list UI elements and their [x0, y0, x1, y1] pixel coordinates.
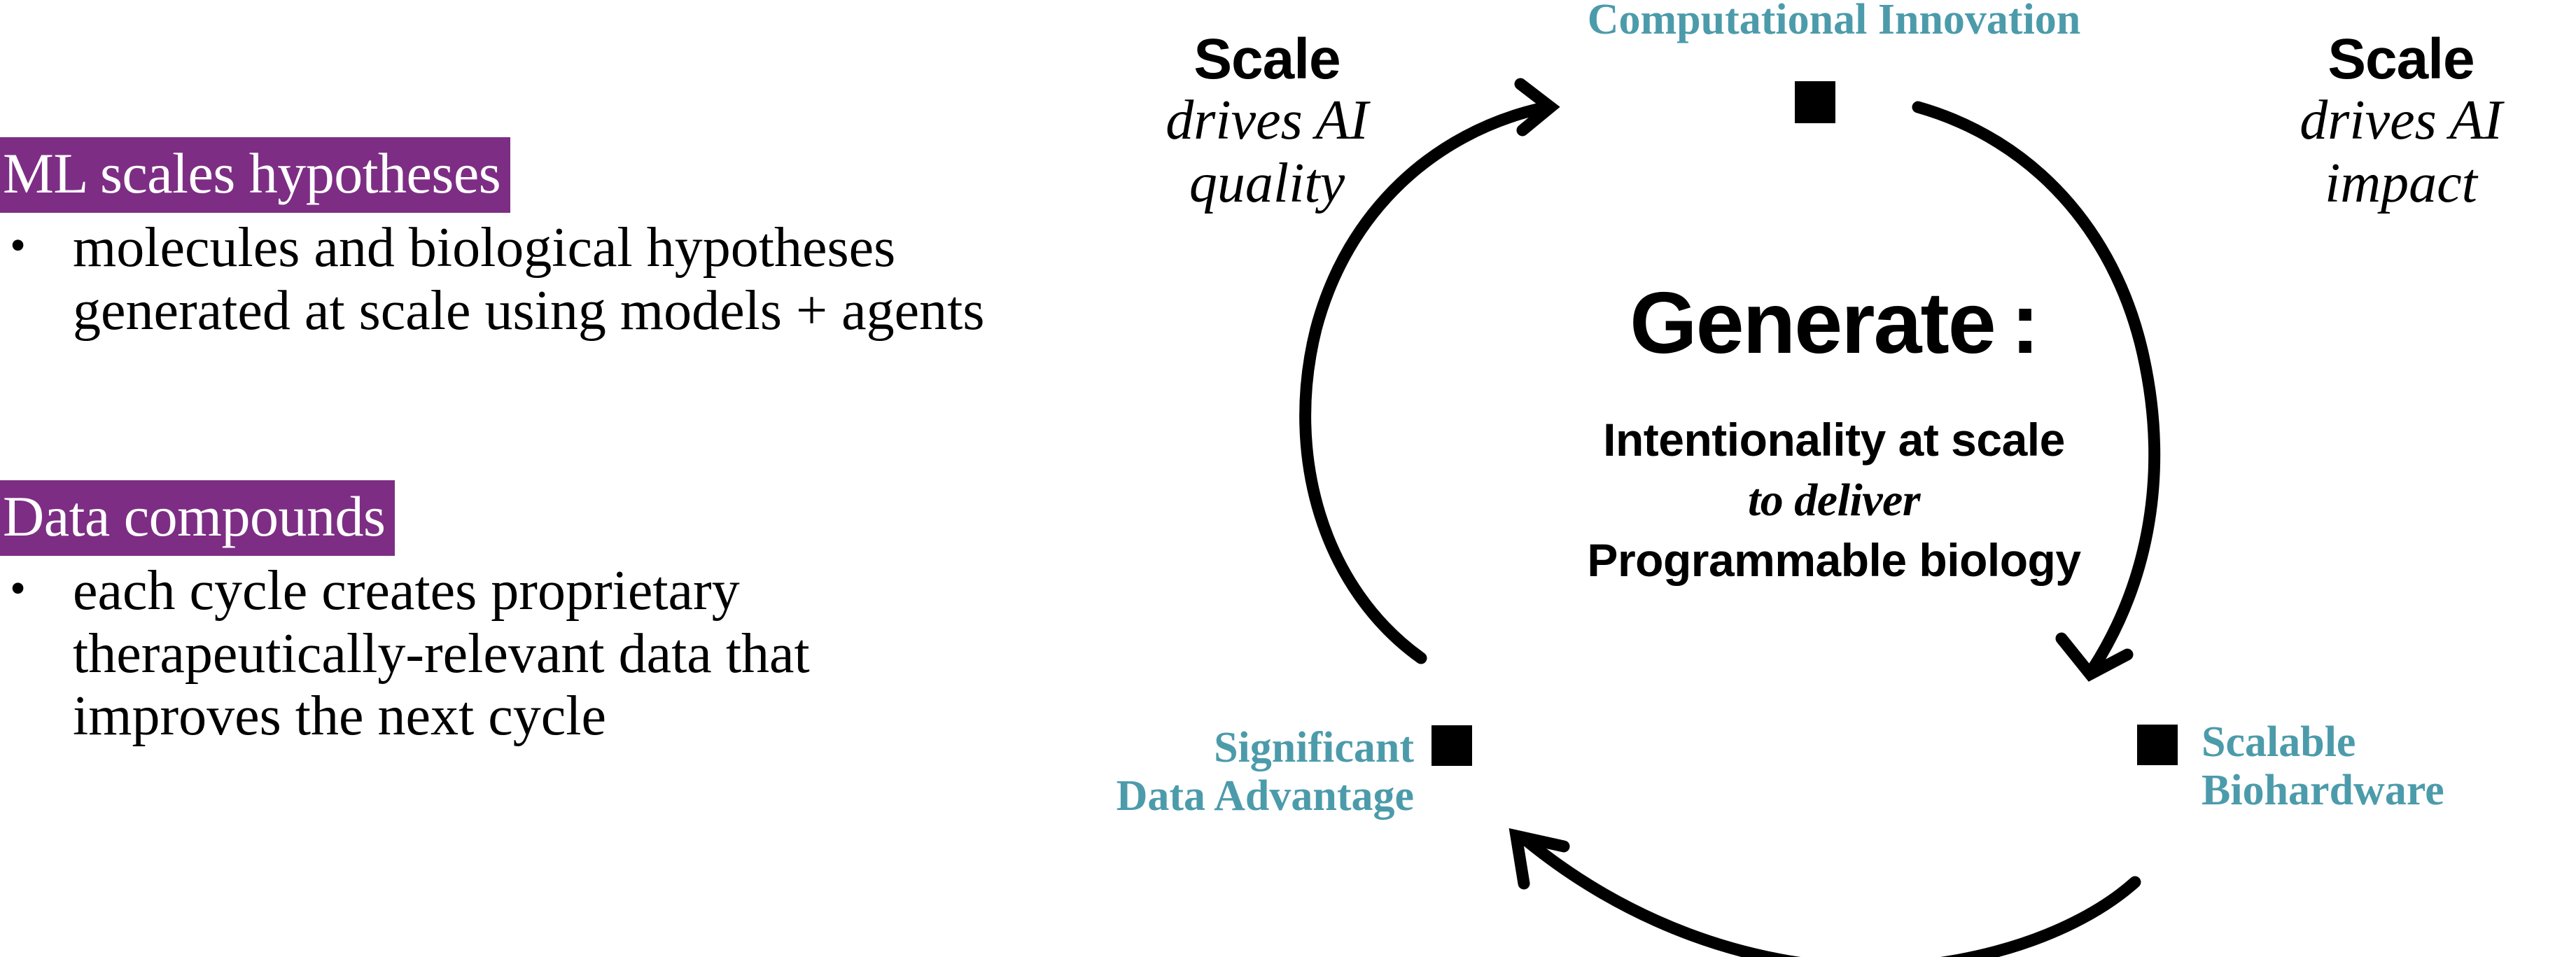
- slide-canvas: ML scales hypotheses • molecules and bio…: [0, 0, 2576, 957]
- center-subtitle: Intentionality at scale to deliver Progr…: [1449, 410, 2219, 590]
- node-marker-significant-data-advantage: [1431, 725, 1472, 766]
- cycle-center-text: Generate : Intentionality at scale to de…: [1449, 280, 2219, 590]
- node-label-line-1: Scalable: [2201, 718, 2565, 767]
- section-heading-data-compounds: Data compounds: [0, 480, 395, 556]
- annotation-sub-line-1: drives AI: [1106, 90, 1428, 153]
- annotation-sub-line-1: drives AI: [2240, 90, 2562, 153]
- bullet-text-data: each cycle creates proprietary therapeut…: [73, 560, 1077, 748]
- node-marker-scalable-biohardware: [2137, 725, 2178, 765]
- center-title-generate: Generate :: [1449, 280, 2219, 367]
- annotation-scale-drives-ai-impact: Scale drives AI impact: [2240, 29, 2562, 215]
- annotation-sub-line-2: quality: [1106, 153, 1428, 216]
- annotation-scale-drives-ai-quality: Scale drives AI quality: [1106, 29, 1428, 215]
- node-marker-computational-innovation: [1795, 81, 1835, 123]
- left-text-column: ML scales hypotheses • molecules and bio…: [0, 0, 1092, 957]
- node-label-line-2: Data Advantage: [1106, 772, 1414, 820]
- arc-bottom-left: [1526, 840, 2135, 957]
- bullet-marker-icon: •: [6, 560, 73, 618]
- bullet-item-data: • each cycle creates proprietary therape…: [6, 560, 1077, 748]
- center-subtitle-line-3: Programmable biology: [1449, 531, 2219, 591]
- annotation-scale-word: Scale: [2240, 29, 2562, 90]
- node-label-significant-data-advantage: Significant Data Advantage: [1106, 724, 1414, 821]
- section-heading-ml-scales-hypotheses: ML scales hypotheses: [0, 137, 510, 213]
- node-label-line-2: Biohardware: [2201, 767, 2565, 815]
- center-subtitle-line-2: to deliver: [1449, 470, 2219, 531]
- bullet-text-ml: molecules and biological hypotheses gene…: [73, 217, 1077, 342]
- annotation-scale-word: Scale: [1106, 29, 1428, 90]
- center-subtitle-line-1: Intentionality at scale: [1449, 410, 2219, 470]
- annotation-sub-line-2: impact: [2240, 153, 2562, 216]
- node-label-line-1: Significant: [1106, 724, 1414, 772]
- bullet-item-ml: • molecules and biological hypotheses ge…: [6, 217, 1077, 342]
- node-label-scalable-biohardware: Scalable Biohardware: [2201, 718, 2565, 816]
- bullet-marker-icon: •: [6, 217, 73, 275]
- cycle-diagram: Computational Innovation Significant Dat…: [1092, 0, 2576, 957]
